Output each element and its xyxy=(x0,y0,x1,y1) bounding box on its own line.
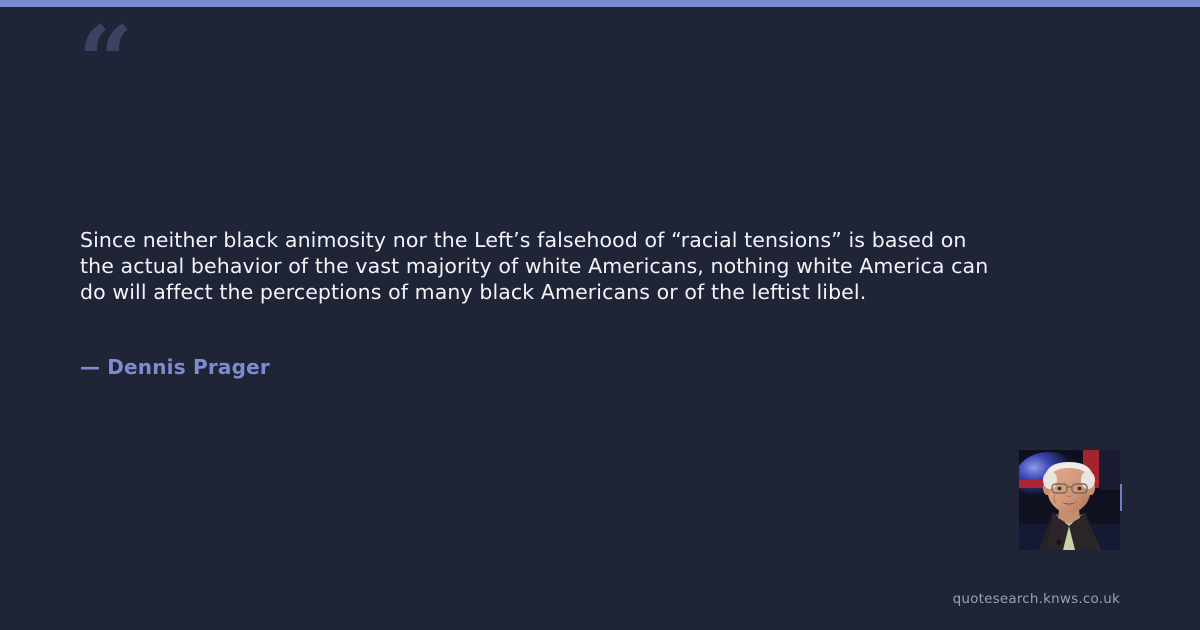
attribution: —Dennis Prager xyxy=(80,355,270,379)
quote-card: “ Since neither black animosity nor the … xyxy=(0,0,1200,630)
source-url: quotesearch.knws.co.uk xyxy=(953,591,1120,607)
attribution-dash: — xyxy=(80,355,100,379)
portrait-accent-edge xyxy=(1120,484,1122,511)
quote-mark-icon: “ xyxy=(78,14,131,110)
author-portrait xyxy=(1019,450,1120,550)
quote-text: Since neither black animosity nor the Le… xyxy=(80,228,990,305)
top-accent-bar xyxy=(0,0,1200,7)
attribution-author: Dennis Prager xyxy=(107,355,270,379)
